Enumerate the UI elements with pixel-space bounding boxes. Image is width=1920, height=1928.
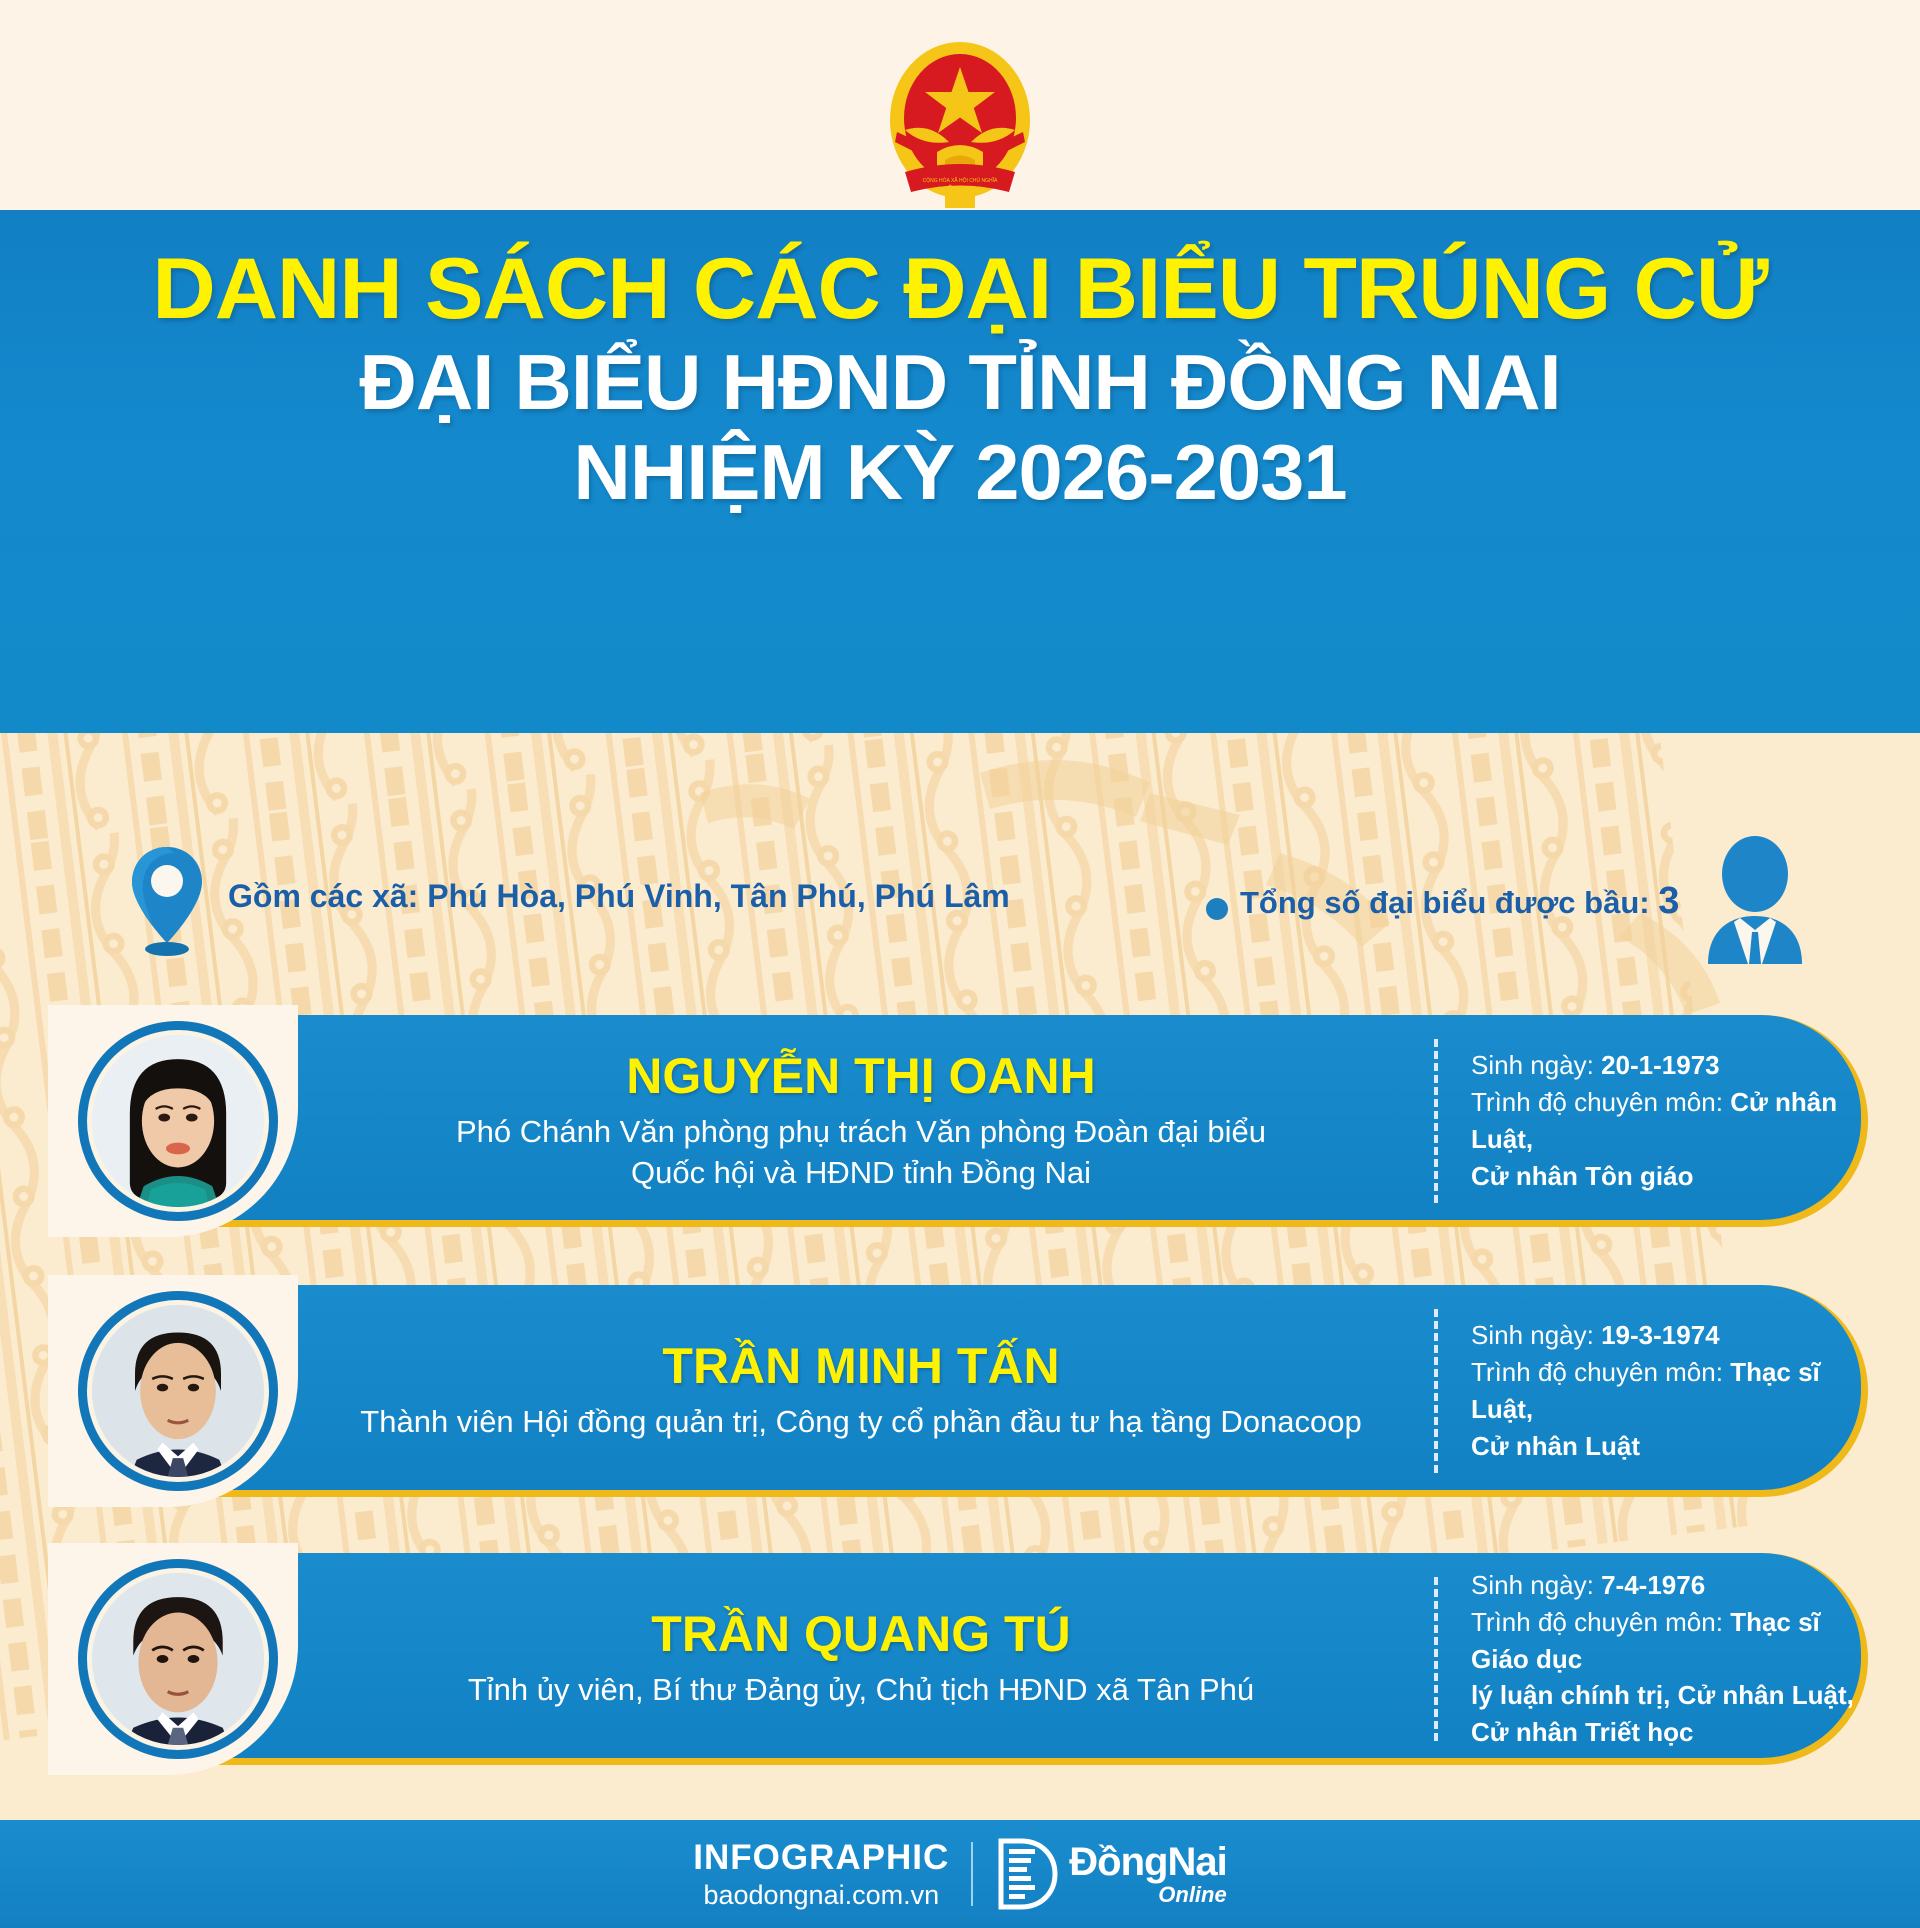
candidate-name: TRẦN MINH TẤN — [662, 1339, 1059, 1394]
education-row-3: Cử nhân Triết học — [1471, 1714, 1871, 1751]
education-value-2: lý luận chính trị, Cử nhân Luật, — [1471, 1680, 1854, 1710]
card-detail: Sinh ngày: 20-1-1973 Trình độ chuyên môn… — [1471, 1015, 1871, 1227]
bullet-dot-icon — [1206, 898, 1228, 920]
title-line-3: NHIỆM KỲ 2026-2031 — [0, 432, 1920, 514]
card-detail: Sinh ngày: 19-3-1974 Trình độ chuyên môn… — [1471, 1285, 1871, 1497]
education-row: Trình độ chuyên môn: Cử nhân Luật, — [1471, 1084, 1871, 1158]
avatar-inner-ring — [87, 1300, 269, 1482]
birth-row: Sinh ngày: 7-4-1976 — [1471, 1567, 1871, 1604]
dongnai-logo[interactable]: ĐồngNai Online — [995, 1837, 1226, 1911]
info-row: Gồm các xã: Phú Hòa, Phú Vinh, Tân Phú, … — [0, 830, 1920, 970]
candidate-photo — [92, 1035, 264, 1207]
candidate-name: NGUYỄN THỊ OANH — [626, 1049, 1095, 1104]
total-delegates-value: 3 — [1658, 880, 1679, 922]
footer-website-url[interactable]: baodongnai.com.vn — [703, 1880, 939, 1911]
education-value-2: Cử nhân Luật — [1471, 1431, 1640, 1461]
candidate-role: Phó Chánh Văn phòng phụ trách Văn phòng … — [456, 1112, 1266, 1194]
avatar — [78, 1021, 278, 1221]
person-icon — [1700, 836, 1810, 964]
candidate-role-line-1: Phó Chánh Văn phòng phụ trách Văn phòng … — [456, 1112, 1266, 1153]
candidate-card[interactable]: TRẦN MINH TẤN Thành viên Hội đồng quản t… — [56, 1285, 1868, 1497]
card-main: TRẦN QUANG TÚ Tỉnh ủy viên, Bí thư Đảng … — [306, 1553, 1416, 1765]
education-row: Trình độ chuyên môn: Thạc sĩ Giáo dục — [1471, 1604, 1871, 1678]
total-delegates-text: Tổng số đại biểu được bầu: — [1240, 885, 1658, 920]
emblem-band: CỘNG HÒA XÃ HỘI CHỦ NGHĨA VIỆT NAM — [0, 0, 1920, 210]
candidate-card[interactable]: TRẦN QUANG TÚ Tỉnh ủy viên, Bí thư Đảng … — [56, 1553, 1868, 1765]
title-band: DANH SÁCH CÁC ĐẠI BIỂU TRÚNG CỬ ĐẠI BIỂU… — [0, 210, 1920, 735]
candidate-role: Tỉnh ủy viên, Bí thư Đảng ủy, Chủ tịch H… — [468, 1670, 1254, 1711]
education-row: Trình độ chuyên môn: Thạc sĩ Luật, — [1471, 1354, 1871, 1428]
education-row-2: Cử nhân Tôn giáo — [1471, 1158, 1871, 1195]
candidate-role: Thành viên Hội đồng quản trị, Công ty cổ… — [360, 1402, 1361, 1443]
education-label: Trình độ chuyên môn: — [1471, 1607, 1730, 1637]
birth-value: 19-3-1974 — [1601, 1320, 1720, 1350]
birth-value: 20-1-1973 — [1601, 1050, 1720, 1080]
education-value-2: Cử nhân Tôn giáo — [1471, 1161, 1693, 1191]
brand-sub: Online — [1069, 1884, 1226, 1906]
education-label: Trình độ chuyên môn: — [1471, 1357, 1730, 1387]
candidate-photo — [92, 1305, 264, 1477]
birth-label: Sinh ngày: — [1471, 1050, 1601, 1080]
candidate-role-line-1: Thành viên Hội đồng quản trị, Công ty cổ… — [360, 1402, 1361, 1443]
card-main: NGUYỄN THỊ OANH Phó Chánh Văn phòng phụ … — [306, 1015, 1416, 1227]
communes-label: Gồm các xã: Phú Hòa, Phú Vinh, Tân Phú, … — [228, 878, 1010, 915]
footer: INFOGRAPHIC baodongnai.com.vn ĐồngNai On… — [0, 1820, 1920, 1928]
avatar-inner-ring — [87, 1030, 269, 1212]
birth-value: 7-4-1976 — [1601, 1570, 1705, 1600]
footer-divider — [971, 1842, 973, 1906]
education-row-2: lý luận chính trị, Cử nhân Luật, — [1471, 1677, 1871, 1714]
card-divider — [1434, 1039, 1438, 1203]
candidate-photo — [92, 1573, 264, 1745]
card-main: TRẦN MINH TẤN Thành viên Hội đồng quản t… — [306, 1285, 1416, 1497]
education-label: Trình độ chuyên môn: — [1471, 1087, 1730, 1117]
dongnai-mark-icon — [995, 1837, 1059, 1911]
location-pin-icon — [130, 845, 204, 957]
card-divider — [1434, 1577, 1438, 1741]
education-row-2: Cử nhân Luật — [1471, 1428, 1871, 1465]
title-line-2: ĐẠI BIỂU HĐND TỈNH ĐỒNG NAI — [0, 342, 1920, 424]
dongnai-wordmark: ĐồngNai Online — [1069, 1842, 1226, 1906]
candidate-name: TRẦN QUANG TÚ — [651, 1607, 1070, 1662]
footer-infographic-label: INFOGRAPHIC — [693, 1838, 949, 1878]
brand-name: ĐồngNai — [1069, 1842, 1226, 1882]
birth-row: Sinh ngày: 19-3-1974 — [1471, 1317, 1871, 1354]
birth-label: Sinh ngày: — [1471, 1320, 1601, 1350]
vietnam-national-emblem-icon: CỘNG HÒA XÃ HỘI CHỦ NGHĨA VIỆT NAM — [875, 20, 1045, 210]
candidate-role-line-1: Tỉnh ủy viên, Bí thư Đảng ủy, Chủ tịch H… — [468, 1670, 1254, 1711]
candidate-role-line-2: Quốc hội và HĐND tỉnh Đồng Nai — [456, 1153, 1266, 1194]
card-divider — [1434, 1309, 1438, 1473]
birth-label: Sinh ngày: — [1471, 1570, 1601, 1600]
card-detail: Sinh ngày: 7-4-1976 Trình độ chuyên môn:… — [1471, 1553, 1871, 1765]
avatar — [78, 1559, 278, 1759]
title-line-1: DANH SÁCH CÁC ĐẠI BIỂU TRÚNG CỬ — [0, 244, 1920, 334]
footer-infographic-block: INFOGRAPHIC baodongnai.com.vn — [693, 1838, 949, 1911]
total-delegates-label: Tổng số đại biểu được bầu: 3 — [1240, 880, 1679, 923]
candidate-card[interactable]: NGUYỄN THỊ OANH Phó Chánh Văn phòng phụ … — [56, 1015, 1868, 1227]
svg-text:CỘNG HÒA XÃ HỘI CHỦ NGHĨA: CỘNG HÒA XÃ HỘI CHỦ NGHĨA — [923, 177, 998, 184]
education-value-3: Cử nhân Triết học — [1471, 1717, 1694, 1747]
avatar-inner-ring — [87, 1568, 269, 1750]
avatar — [78, 1291, 278, 1491]
birth-row: Sinh ngày: 20-1-1973 — [1471, 1047, 1871, 1084]
